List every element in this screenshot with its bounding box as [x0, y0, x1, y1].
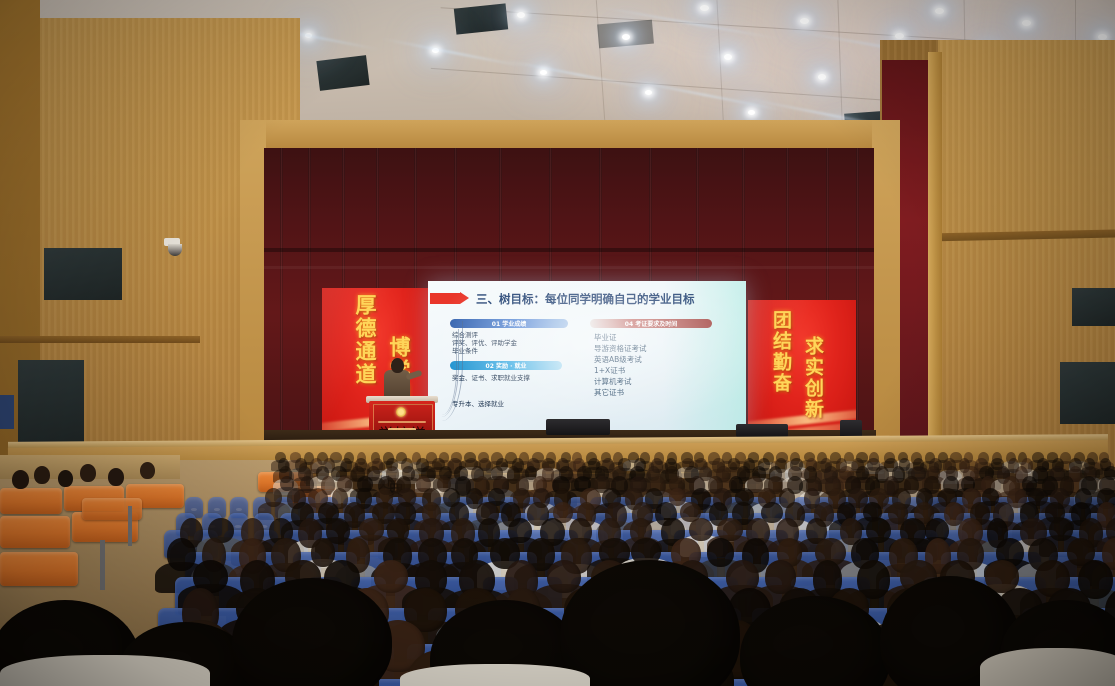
orange-desk-seat[interactable] — [0, 488, 62, 514]
seat-leg — [100, 540, 105, 590]
banner-right-line2: 求实创新 — [800, 336, 827, 420]
audience-head — [689, 518, 712, 541]
banner-left-line1: 厚德通道 — [350, 294, 380, 386]
ceiling-light — [818, 74, 826, 80]
ceiling-light — [540, 70, 547, 75]
ceiling-vent — [454, 3, 508, 34]
audience-head — [140, 462, 155, 479]
audience-shoulders — [400, 664, 590, 686]
seat-leg — [128, 506, 132, 546]
banner-right-line1: 团结勤奋 — [768, 310, 795, 394]
ceiling-light — [895, 33, 904, 39]
stage-monitor-center — [736, 424, 788, 437]
acoustic-panel — [1060, 362, 1115, 424]
audience-head — [12, 470, 29, 489]
audience-head — [265, 488, 282, 507]
ceiling-light — [517, 12, 525, 18]
audience-head — [80, 464, 96, 482]
wall-cornice — [0, 336, 200, 343]
audience-head — [359, 518, 385, 541]
proscenium-frame-left — [240, 120, 266, 460]
orange-desk-seat[interactable] — [0, 552, 78, 586]
ceiling-light — [645, 90, 652, 95]
acoustic-panel — [44, 248, 122, 300]
acoustic-panel — [1072, 288, 1115, 326]
audience-head — [547, 560, 581, 593]
stage-monitor-left — [546, 419, 610, 435]
ceiling-light — [800, 18, 809, 24]
ceiling-light — [1022, 20, 1031, 26]
door-frame — [928, 52, 942, 464]
audience-shoulders — [0, 655, 210, 686]
acoustic-panel — [18, 360, 84, 452]
audience-head — [58, 470, 73, 487]
podium-banner-text: 学校学生工作处 — [378, 421, 426, 423]
orange-desk-seat[interactable] — [0, 516, 70, 548]
ceiling-light — [935, 8, 944, 14]
speaker-head — [391, 358, 404, 373]
ceiling-light — [724, 54, 732, 60]
ceiling-light — [700, 5, 709, 11]
wall-notice-sign — [0, 395, 14, 429]
proscenium-frame-top — [240, 120, 900, 150]
audience-head — [1049, 518, 1073, 541]
audience-head — [707, 538, 734, 567]
orange-desk-seat[interactable] — [82, 498, 142, 520]
audience-shoulders — [980, 648, 1115, 686]
proscenium-frame-right — [872, 120, 900, 460]
audience-head — [108, 468, 124, 486]
slide-content: 三、树目标：每位同学明确自己的学业目标 01 学业成绩 综合测评 评奖、评优、评… — [428, 281, 746, 431]
ceiling-light — [748, 110, 755, 115]
ceiling-vent — [316, 55, 369, 91]
audience-head — [34, 466, 50, 484]
slide-projector-glow — [428, 281, 746, 431]
ceiling-light — [622, 34, 630, 40]
audience-head — [167, 538, 196, 571]
auditorium-photo: 厚德通道 博学知 团结勤奋 求实创新 三、树目标：每位同学明确自己的学业目标 0… — [0, 0, 1115, 686]
school-crest-icon — [396, 407, 406, 417]
audience-head — [374, 560, 409, 593]
led-banner-right: 团结勤奋 求实创新 — [748, 300, 856, 434]
projection-screen: 三、树目标：每位同学明确自己的学业目标 01 学业成绩 综合测评 评奖、评优、评… — [428, 281, 746, 431]
